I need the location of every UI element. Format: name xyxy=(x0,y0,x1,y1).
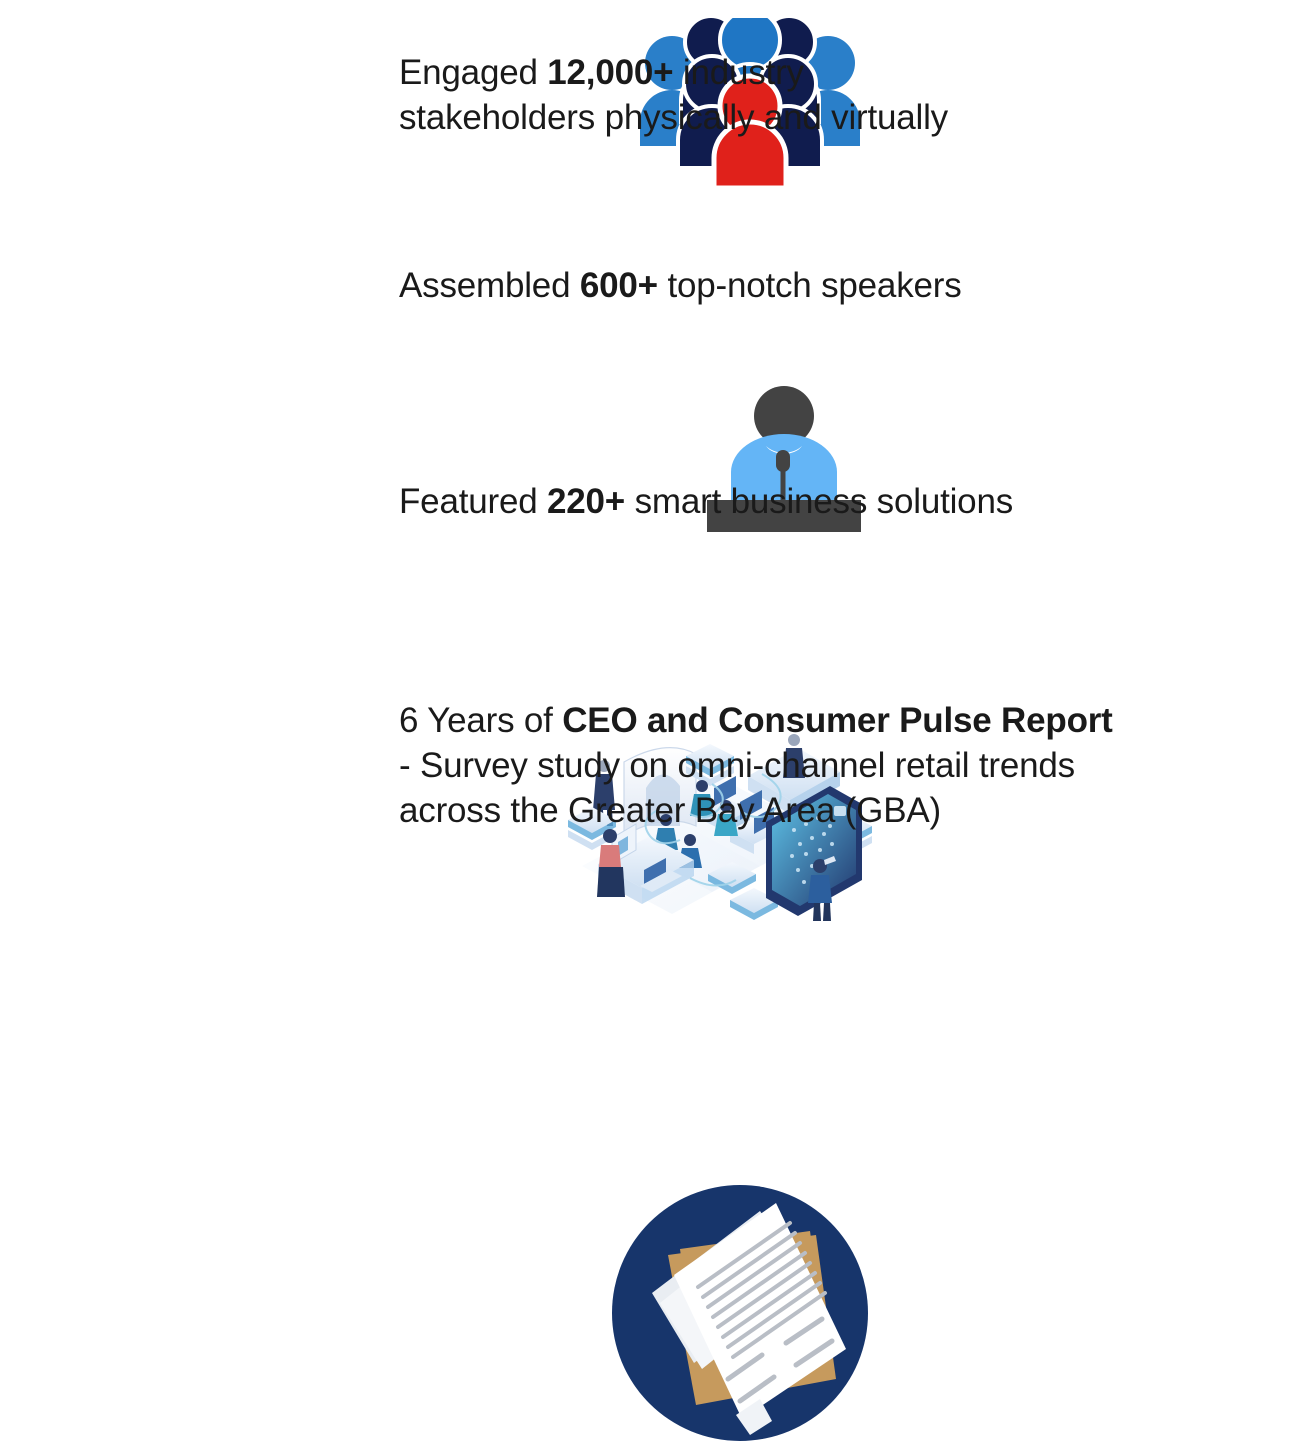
stat-text-segment: Engaged xyxy=(399,53,547,92)
stat-highlight: 12,000+ xyxy=(547,53,673,92)
stat-text-line: across the Greater Bay Area (GBA) xyxy=(399,788,1239,833)
stat-text-line: Featured 220+ smart business solutions xyxy=(399,479,1139,524)
stat-text-people: Engaged 12,000+ industrystakeholders phy… xyxy=(399,50,1059,140)
stat-text-line: - Survey study on omni-channel retail tr… xyxy=(399,743,1239,788)
stat-highlight: CEO and Consumer Pulse Report xyxy=(562,701,1112,740)
stat-text-segment: top-notch speakers xyxy=(658,266,962,305)
stat-text-solutions: Featured 220+ smart business solutions xyxy=(399,479,1139,524)
stat-text-segment: 6 Years of xyxy=(399,701,562,740)
stat-text-report: 6 Years of CEO and Consumer Pulse Report… xyxy=(399,698,1239,833)
stat-text-line: Engaged 12,000+ industry xyxy=(399,50,1059,95)
stat-text-segment: Assembled xyxy=(399,266,580,305)
stat-highlight: 600+ xyxy=(580,266,658,305)
stat-text-segment: smart business solutions xyxy=(625,482,1013,521)
stat-highlight: 220+ xyxy=(547,482,625,521)
infographic-slide: Engaged 12,000+ industrystakeholders phy… xyxy=(0,0,1307,921)
stat-text-segment: stakeholders physically and virtually xyxy=(399,98,948,137)
stat-text-speaker: Assembled 600+ top-notch speakers xyxy=(399,263,1099,308)
microphone-head xyxy=(776,450,790,472)
stat-text-line: stakeholders physically and virtually xyxy=(399,95,1059,140)
stat-text-line: 6 Years of CEO and Consumer Pulse Report xyxy=(399,698,1239,743)
documents-report-icon xyxy=(86,1183,1307,1443)
stat-text-segment: Featured xyxy=(399,482,547,521)
stat-text-segment: - Survey study on omni-channel retail tr… xyxy=(399,746,1075,785)
stat-text-segment: industry xyxy=(673,53,803,92)
stat-text-line: Assembled 600+ top-notch speakers xyxy=(399,263,1099,308)
stat-text-segment: across the Greater Bay Area (GBA) xyxy=(399,791,941,830)
